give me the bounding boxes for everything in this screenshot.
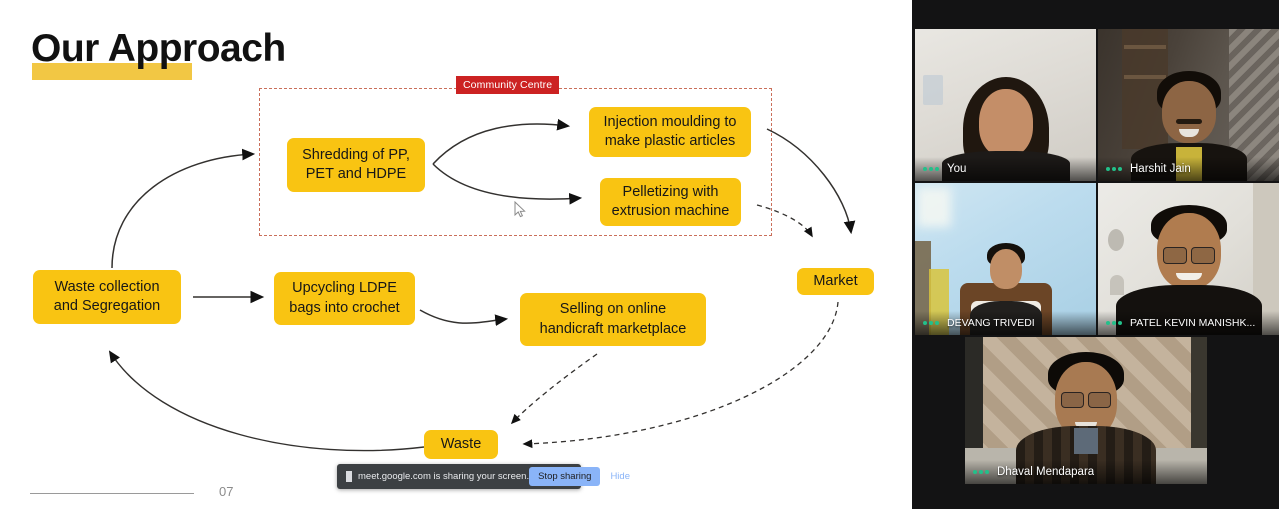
participant-tile[interactable]: DEVANG TRIVEDI [915, 183, 1096, 335]
page-number: 07 [219, 484, 233, 499]
participant-tile[interactable]: Dhaval Mendapara [965, 337, 1207, 484]
node-selling-online: Selling on online handicraft marketplace [520, 293, 706, 346]
stop-sharing-button[interactable]: Stop sharing [529, 467, 600, 486]
participant-panel: You Harshi [912, 0, 1279, 509]
mic-activity-icon [923, 321, 939, 325]
participant-name-strip: You [915, 157, 1096, 181]
participant-name: Dhaval Mendapara [997, 466, 1094, 478]
community-centre-label: Community Centre [456, 76, 559, 94]
participant-tile[interactable]: You [915, 29, 1096, 181]
footer-rule [30, 493, 194, 494]
participant-name-strip: DEVANG TRIVEDI [915, 311, 1096, 335]
participant-tile[interactable]: PATEL KEVIN MANISHK... [1098, 183, 1279, 335]
node-market: Market [797, 268, 874, 295]
share-message: meet.google.com is sharing your screen. [358, 471, 529, 482]
node-shredding: Shredding of PP, PET and HDPE [287, 138, 425, 192]
pause-icon [346, 471, 352, 482]
page-title: Our Approach [31, 27, 286, 71]
node-pelletizing: Pelletizing with extrusion machine [600, 178, 741, 226]
mic-activity-icon [1106, 167, 1122, 171]
participant-name-strip: PATEL KEVIN MANISHK... [1098, 311, 1279, 335]
shared-slide: Our Approach Community Centre [0, 0, 912, 509]
mic-activity-icon [923, 167, 939, 171]
mic-activity-icon [1106, 321, 1122, 325]
participant-name: You [947, 163, 966, 175]
mic-activity-icon [973, 470, 989, 474]
participant-name: Harshit Jain [1130, 163, 1191, 175]
node-injection-moulding: Injection moulding to make plastic artic… [589, 107, 751, 157]
participant-name: PATEL KEVIN MANISHK... [1130, 317, 1255, 329]
node-waste: Waste [424, 430, 498, 459]
node-waste-collection: Waste collection and Segregation [33, 270, 181, 324]
participant-name-strip: Dhaval Mendapara [965, 460, 1207, 484]
hide-bar-link[interactable]: Hide [610, 471, 630, 482]
participant-name: DEVANG TRIVEDI [947, 317, 1035, 329]
screen-share-bar: meet.google.com is sharing your screen. … [337, 464, 581, 489]
participant-name-strip: Harshit Jain [1098, 157, 1279, 181]
mouse-cursor-icon [514, 201, 526, 218]
node-upcycling: Upcycling LDPE bags into crochet [274, 272, 415, 325]
participant-tile[interactable]: Harshit Jain [1098, 29, 1279, 181]
meeting-screen-share-view: Our Approach Community Centre [0, 0, 1279, 509]
